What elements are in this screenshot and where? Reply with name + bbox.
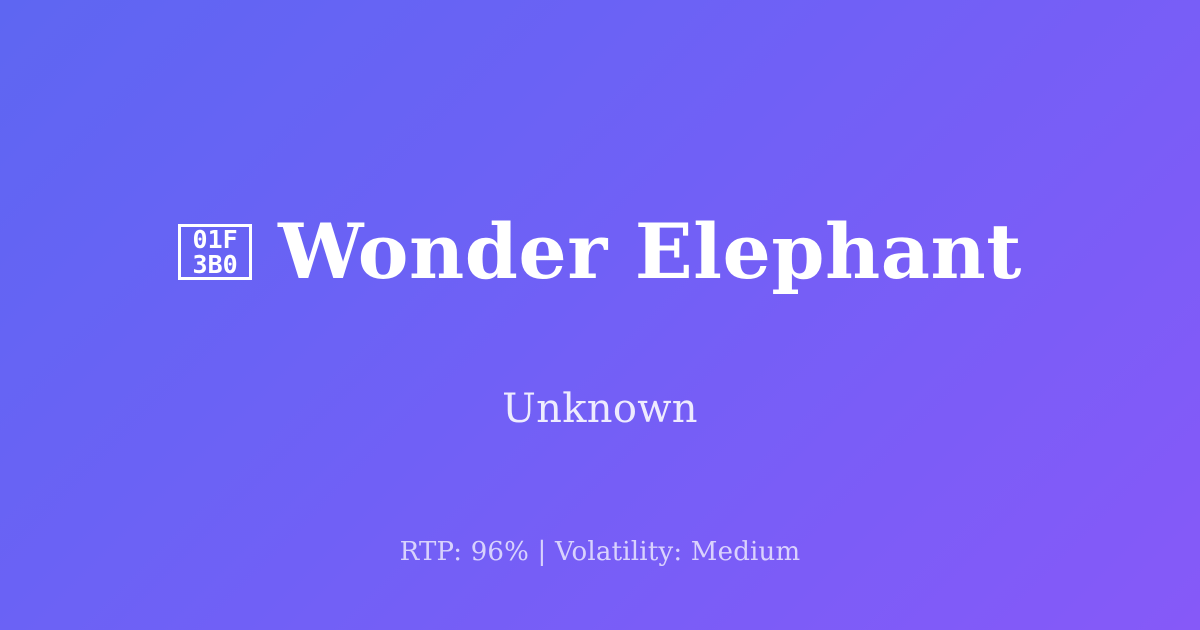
tofu-codepoint-top: 01F bbox=[193, 227, 238, 252]
game-title: Wonder Elephant bbox=[278, 212, 1022, 292]
title-row: 01F 3B0 Wonder Elephant bbox=[178, 161, 1022, 343]
game-subtitle: Unknown bbox=[502, 387, 698, 431]
tofu-codepoint-bottom: 3B0 bbox=[193, 252, 238, 277]
game-meta-line: RTP: 96% | Volatility: Medium bbox=[0, 537, 1200, 568]
slot-machine-icon: 01F 3B0 bbox=[178, 224, 252, 280]
game-preview-card: 01F 3B0 Wonder Elephant Unknown RTP: 96%… bbox=[0, 0, 1200, 630]
